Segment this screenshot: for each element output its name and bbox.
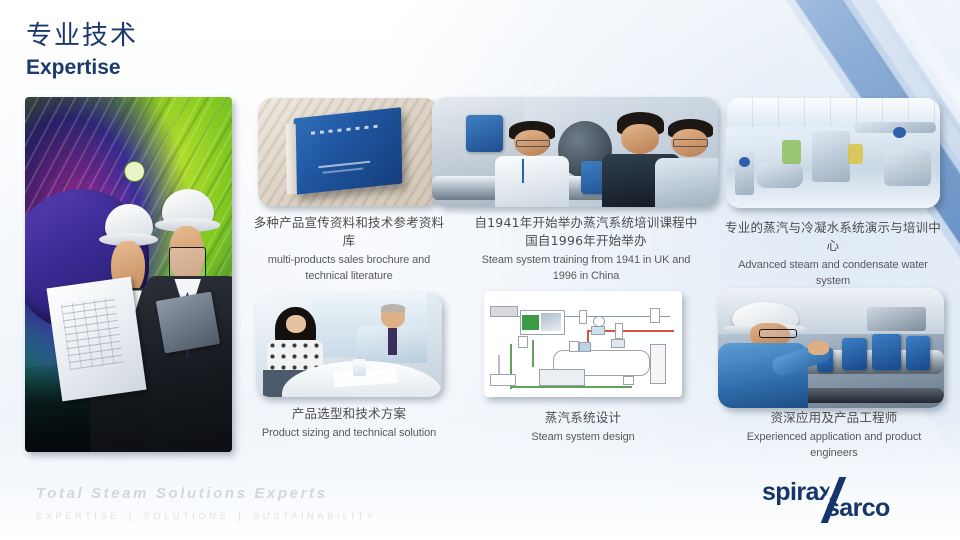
spirax-sarco-logo: spirax sarco [756,478,942,526]
footer-pillar-expertise: EXPERTISE [36,511,120,522]
schematic-pump [490,374,516,387]
caption-field-engineer: 资深应用及产品工程师 Experienced application and p… [728,409,940,461]
page-title: 专业技术 Expertise [26,20,138,80]
caption-schematic-en: Steam system design [482,430,684,446]
footer-tagline: Total Steam Solutions Experts [36,485,376,502]
footer-pillar-solutions: SOLUTIONS [144,511,230,522]
blue-valve-icon [739,157,750,167]
schematic-controller [591,326,605,335]
field-engineer-hand [808,341,828,355]
schematic-heat-exchanger [522,315,540,330]
schematic-branch-line [532,340,534,368]
card-photo-field-engineer [718,288,944,408]
footer: Total Steam Solutions Experts EXPERTISE … [36,485,376,522]
schematic-feed-line-h [510,386,633,388]
demo-rig-4 [884,149,931,186]
hero-photo-blueprint [46,276,146,400]
field-valve-actuator [867,307,926,331]
schematic-trap-1 [611,339,625,348]
safety-glasses-icon [759,329,797,338]
blue-valve-icon [842,338,867,369]
caption-consultation-zh: 产品选型和技术方案 [248,405,450,423]
schematic-vessel-window [541,313,561,331]
schematic-blowdown-vessel [650,344,666,384]
demo-green-panel [782,140,801,164]
page-title-en: Expertise [26,55,138,80]
schematic-valve-2 [615,323,623,339]
training-person-3 [667,119,716,207]
card-photo-training [432,97,718,207]
book-subtitle-line-2 [323,168,364,174]
catalog-book-icon [294,107,403,194]
schematic-valve-1 [579,310,587,324]
blue-valve-icon [906,336,931,370]
card-photo-brochure [258,98,438,206]
hero-photo-gauge [124,161,145,182]
consultation-water-glass [353,359,366,376]
training-person-3-coat [655,158,718,207]
footer-separator-2: | [238,511,244,522]
book-title-lines [311,125,378,135]
hard-hat-icon [162,189,214,228]
caption-consultation-en: Product sizing and technical solution [248,426,450,442]
blue-valve-icon [466,115,503,152]
glasses-icon [673,139,708,146]
schematic-trap-2 [623,376,635,385]
caption-field-engineer-en: Experienced application and product engi… [728,430,940,461]
schematic-valve-3 [650,308,660,323]
caption-brochure-zh: 多种产品宣传资料和技术参考资料库 [250,214,448,250]
consultation-woman-face [286,315,306,333]
caption-demo-centre-en: Advanced steam and condensate water syst… [722,258,944,289]
demo-yellow-panel [848,144,863,164]
demo-rig-2 [756,162,803,188]
consultation-man-hair [381,304,405,312]
schematic-burner-skid [539,369,585,386]
schematic-valve-4 [518,336,528,349]
caption-field-engineer-zh: 资深应用及产品工程师 [728,409,940,427]
schematic-valve-5 [569,341,579,353]
caption-schematic: 蒸汽系统设计 Steam system design [482,409,684,446]
slide-expertise: 专业技术 Expertise [0,0,960,540]
caption-brochure: 多种产品宣传资料和技术参考资料库 multi-products sales br… [250,214,448,284]
caption-consultation: 产品选型和技术方案 Product sizing and technical s… [248,405,450,442]
footer-separator-1: | [129,511,135,522]
caption-demo-centre: 专业的蒸汽与冷凝水系统演示与培训中心 Advanced steam and co… [722,219,944,289]
glasses-icon [516,140,550,147]
caption-training-zh: 自1941年开始举办蒸汽系统培训课程中国自1996年开始举办 [470,214,702,250]
training-person-2-head [621,124,659,154]
card-photo-consultation [256,292,442,397]
logo-word-spirax: spirax [762,478,832,507]
footer-pillars: EXPERTISE | SOLUTIONS | SUSTAINABILITY [36,511,376,522]
schematic-level-probe [579,342,591,352]
lanyard-icon [522,159,524,183]
caption-training: 自1941年开始举办蒸汽系统培训课程中国自1996年开始举办 Steam sys… [470,214,702,284]
caption-brochure-en: multi-products sales brochure and techni… [250,253,448,284]
hero-photo-clipboard [155,291,219,353]
logo-word-sarco: sarco [826,494,890,523]
caption-schematic-zh: 蒸汽系统设计 [482,409,684,427]
card-photo-schematic [484,291,682,397]
consultation-man-tie [388,328,397,355]
demo-rig-3 [812,131,851,182]
card-photo-demo-centre [726,98,940,208]
training-person-1 [506,121,557,207]
hero-photo-engineers-blueprint [25,97,232,452]
page-title-zh: 专业技术 [26,20,138,53]
hard-hat-icon [105,204,153,244]
caption-training-en: Steam system training from 1941 in UK an… [470,253,702,284]
schematic-water-tank [490,306,518,318]
blue-valve-icon [872,334,901,370]
caption-demo-centre-zh: 专业的蒸汽与冷凝水系统演示与培训中心 [722,219,944,255]
training-person-1-labcoat [495,156,569,207]
footer-pillar-sustainability: SUSTAINABILITY [253,511,376,522]
blue-valve-icon [893,127,906,138]
